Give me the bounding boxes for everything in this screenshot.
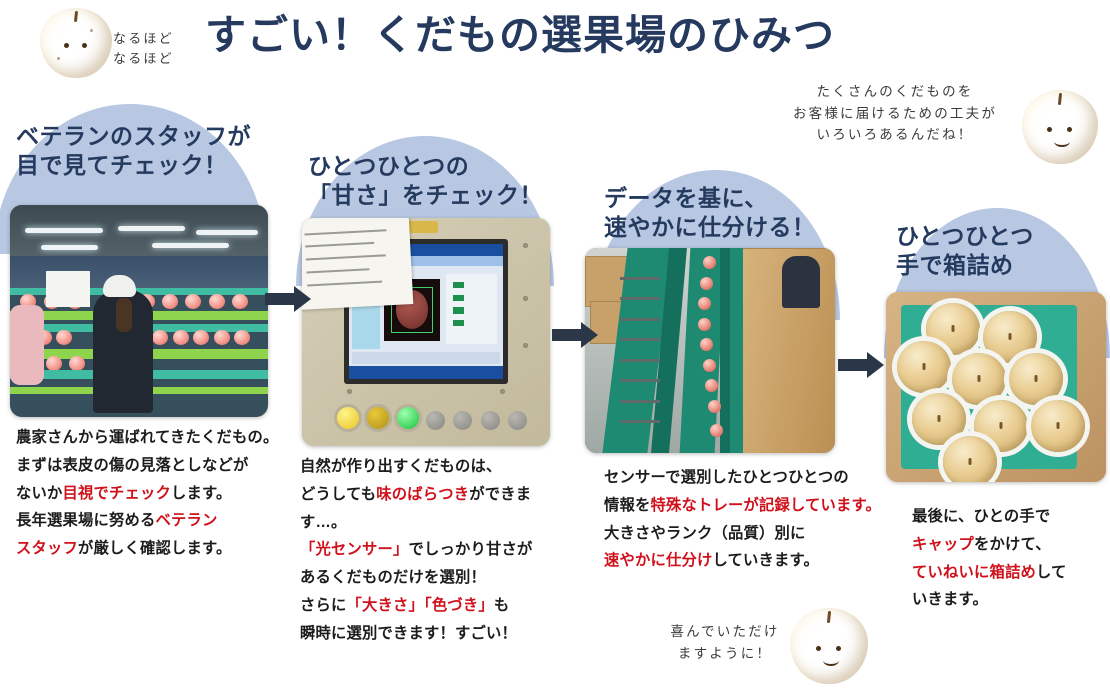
step-2-title: ひとつひとつの 「甘さ」をチェック！ [308, 152, 543, 211]
console-button [481, 411, 500, 430]
pear-stem [74, 11, 78, 22]
pear-stem [827, 611, 831, 623]
caption-line: スタッフが厳しく確認します。 [16, 535, 294, 563]
console-button [426, 411, 445, 430]
pear-mascot-icon [40, 8, 112, 78]
arrow-step2-to-step3-icon [552, 322, 598, 348]
indicator-lamp-green [394, 404, 422, 432]
step-3-photo [585, 248, 835, 453]
pear-stem [1058, 93, 1062, 105]
caption-line: ないか目視でチェックします。 [16, 480, 294, 508]
caption-line: ていねいに箱詰めして [912, 559, 1108, 587]
pear-mascot-icon [790, 608, 868, 684]
caption-line: 最後に、ひとの手で [912, 503, 1108, 531]
step-3-caption: センサーで選別したひとつひとつの情報を特殊なトレーが記録しています。大きさやラン… [604, 464, 894, 575]
pear-eye-left [64, 43, 69, 48]
step-2-photo [302, 218, 550, 446]
step-1-title: ベテランのスタッフが 目で見てチェック！ [16, 122, 251, 181]
caption-line: さらに「大きさ」「色づき」も [300, 592, 568, 620]
step-4-photo [886, 292, 1106, 482]
pear-mascot-icon [1022, 90, 1098, 164]
mascot-bottom-caption: 喜んでいただけ ますように！ [645, 622, 805, 665]
pear-mouth [823, 655, 839, 666]
caption-line: 大きさやランク（品質）別に [604, 520, 894, 548]
step-2-caption: 自然が作り出すくだものは、どうしても味のばらつきができます…。「光センサー」でし… [300, 453, 568, 648]
caption-line: どうしても味のばらつきができます…。 [300, 481, 568, 537]
step-1-caption: 農家さんから運ばれてきたくだもの。まずは表皮の傷の見落としなどがないか目視でチェ… [16, 424, 294, 563]
caption-line: 農家さんから運ばれてきたくだもの。 [16, 424, 294, 452]
arrow-step3-to-step4-icon [838, 352, 884, 378]
pear-eye-right [82, 43, 87, 48]
caption-line: いきます。 [912, 586, 1108, 614]
console-button [508, 411, 527, 430]
arrow-step1-to-step2-icon [265, 286, 311, 312]
caption-line: 「光センサー」でしっかり甘さが [300, 536, 568, 564]
caption-line: 瞬時に選別できます！すごい！ [300, 620, 568, 648]
pear-eye-right [836, 646, 841, 651]
step-4-caption: 最後に、ひとの手でキャップをかけて、ていねいに箱詰めしていきます。 [912, 503, 1108, 614]
pear-eye-right [1067, 127, 1072, 132]
mascot-top-right-caption: たくさんのくだものを お客様に届けるための工夫が いろいろあるんだね！ [770, 82, 1020, 147]
pear-eye-left [1047, 127, 1052, 132]
step-1-photo [10, 205, 268, 417]
caption-line: 情報を特殊なトレーが記録しています。 [604, 492, 894, 520]
page-title: すごい！くだもの選果場のひみつ [205, 8, 805, 63]
caption-line: まずは表皮の傷の見落としなどが [16, 452, 294, 480]
caption-line: 自然が作り出すくだものは、 [300, 453, 568, 481]
step-3-title: データを基に、 速やかに仕分ける！ [604, 184, 816, 243]
caption-line: 長年選果場に努めるベテラン [16, 507, 294, 535]
mascot-top-left-caption: なるほど なるほど [113, 30, 208, 70]
caption-line: あるくだものだけを選別！ [300, 564, 568, 592]
infographic-canvas: すごい！くだもの選果場のひみつ なるほど なるほど たくさんのくだものを お客様… [0, 0, 1110, 689]
caption-line: センサーで選別したひとつひとつの [604, 464, 894, 492]
pear-eye-left [816, 646, 821, 651]
step-4-title: ひとつひとつ 手で箱詰め [896, 222, 1034, 281]
pear-mouth [1054, 136, 1070, 147]
caption-line: キャップをかけて、 [912, 531, 1108, 559]
caption-line: 速やかに仕分けしていきます。 [604, 547, 894, 575]
